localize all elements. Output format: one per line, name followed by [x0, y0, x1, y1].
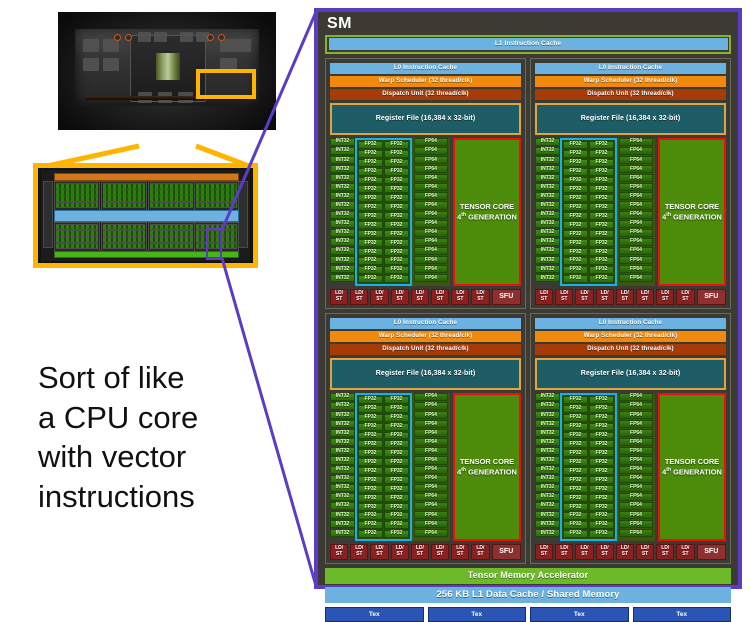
int32-core-column: INT32INT32INT32INT32INT32INT32INT32INT32… — [330, 393, 355, 541]
core-cell: FP32 — [563, 440, 588, 448]
pcb-module — [83, 58, 99, 70]
core-cell: FP64 — [414, 229, 448, 237]
core-cell: FP32 — [563, 221, 588, 229]
core-cell: FP64 — [619, 447, 653, 455]
processing-block-grid: L0 Instruction CacheWarp Scheduler (32 t… — [325, 58, 731, 564]
die-sm-row — [56, 202, 99, 209]
core-cell: FP32 — [589, 159, 614, 167]
core-cell: FP32 — [358, 440, 383, 448]
core-cell: FP64 — [619, 402, 653, 410]
caption-line: a CPU core — [38, 398, 288, 438]
core-cell: FP64 — [619, 138, 653, 146]
core-cell: FP32 — [384, 257, 409, 265]
tex-unit: Tex — [633, 607, 732, 622]
core-cell: FP32 — [589, 257, 614, 265]
core-cell: FP32 — [563, 141, 588, 149]
pcb-module — [220, 39, 236, 51]
core-cell: INT32 — [535, 529, 560, 537]
core-cell: INT32 — [330, 429, 355, 437]
core-cell: FP64 — [619, 420, 653, 428]
die-sm-row — [196, 202, 238, 209]
die-gpc — [101, 222, 148, 252]
core-cell: INT32 — [535, 484, 560, 492]
core-cell: INT32 — [330, 183, 355, 191]
core-cell: FP64 — [619, 265, 653, 273]
pcb-module — [138, 32, 151, 42]
core-cell: FP64 — [619, 393, 653, 401]
core-cell: INT32 — [535, 466, 560, 474]
core-cell: FP64 — [414, 138, 448, 146]
core-cell: FP64 — [619, 156, 653, 164]
core-cell: FP32 — [563, 432, 588, 440]
core-cell: FP32 — [384, 476, 409, 484]
core-cell: FP32 — [589, 449, 614, 457]
pcb-die-surface — [156, 53, 179, 80]
ldst-unit: LD/ST — [656, 544, 674, 560]
core-cell: INT32 — [330, 256, 355, 264]
core-cell: FP32 — [563, 266, 588, 274]
core-cell: FP64 — [619, 247, 653, 255]
tensor-memory-accelerator: Tensor Memory Accelerator — [325, 568, 731, 584]
core-cell: FP32 — [563, 203, 588, 211]
core-cell: FP64 — [619, 229, 653, 237]
core-cell: FP32 — [384, 266, 409, 274]
warp-scheduler: Warp Scheduler (32 thread/clk) — [535, 331, 726, 342]
core-cell: FP32 — [384, 432, 409, 440]
ldst-sfu-row: LD/STLD/STLD/STLD/STLD/STLD/STLD/STLD/ST… — [535, 544, 726, 560]
ldst-unit: LD/ST — [676, 544, 694, 560]
core-cell: FP64 — [414, 502, 448, 510]
core-cell: INT32 — [330, 466, 355, 474]
core-cell: FP64 — [619, 211, 653, 219]
core-cell: INT32 — [535, 256, 560, 264]
core-cell: FP32 — [563, 530, 588, 538]
core-cell: FP32 — [563, 275, 588, 283]
caption-line: instructions — [38, 477, 288, 517]
processing-block: L0 Instruction CacheWarp Scheduler (32 t… — [325, 58, 526, 309]
core-cell: FP64 — [619, 183, 653, 191]
fp64-core-area: FP64FP64FP64FP64FP64FP64FP64FP64FP64FP64… — [412, 393, 450, 541]
ldst-unit: LD/ST — [411, 544, 429, 560]
core-cell: INT32 — [330, 502, 355, 510]
die-top-interface-bar — [54, 173, 240, 181]
core-cell: FP64 — [414, 456, 448, 464]
core-cell: INT32 — [330, 420, 355, 428]
core-cell: FP32 — [358, 396, 383, 404]
pcb-screw — [114, 34, 121, 41]
l1-instruction-cache-wrapper: L1 Instruction Cache — [325, 35, 731, 54]
core-cell: FP32 — [589, 512, 614, 520]
core-cell: FP32 — [358, 221, 383, 229]
core-cell: FP32 — [589, 185, 614, 193]
core-cell: FP64 — [619, 466, 653, 474]
core-cell: INT32 — [330, 147, 355, 155]
core-cell: FP32 — [563, 248, 588, 256]
core-cell: FP32 — [589, 396, 614, 404]
core-cell: FP32 — [563, 239, 588, 247]
core-cell: FP32 — [589, 248, 614, 256]
core-cell: INT32 — [535, 429, 560, 437]
fp32-core-highlight-group: FP32FP32FP32FP32FP32FP32FP32FP32FP32FP32… — [560, 393, 617, 541]
core-cell: FP32 — [589, 467, 614, 475]
core-cell: FP32 — [384, 467, 409, 475]
core-cell: FP32 — [384, 396, 409, 404]
core-cell: FP32 — [589, 194, 614, 202]
ldst-unit: LD/ST — [596, 544, 614, 560]
core-cell: FP32 — [589, 476, 614, 484]
core-cell: FP32 — [589, 168, 614, 176]
core-cell: INT32 — [330, 411, 355, 419]
fp64-core-column: FP64FP64FP64FP64FP64FP64FP64FP64FP64FP64… — [619, 138, 653, 283]
core-cell: FP64 — [619, 274, 653, 282]
core-cell: FP32 — [384, 275, 409, 283]
core-cell: FP64 — [414, 402, 448, 410]
core-cell: INT32 — [330, 165, 355, 173]
core-cell: FP32 — [358, 177, 383, 185]
core-cell: FP64 — [414, 183, 448, 191]
die-gpc — [54, 222, 101, 252]
register-file-wrapper: Register File (16,384 x 32-bit) — [535, 358, 726, 390]
core-cell: FP64 — [619, 529, 653, 537]
ldst-unit: LD/ST — [575, 544, 593, 560]
ldst-unit: LD/ST — [370, 289, 388, 305]
core-cell: FP32 — [563, 458, 588, 466]
fp32-core-column: FP32FP32FP32FP32FP32FP32FP32FP32FP32FP32… — [589, 141, 614, 283]
core-cell: FP32 — [384, 177, 409, 185]
sfu-unit: SFU — [492, 289, 522, 305]
core-cell: FP32 — [358, 414, 383, 422]
tensor-core: TENSOR CORE4th GENERATION — [453, 393, 521, 541]
core-cell: INT32 — [535, 183, 560, 191]
warp-scheduler: Warp Scheduler (32 thread/clk) — [330, 76, 521, 87]
core-cell: FP64 — [414, 447, 448, 455]
core-cell: FP64 — [619, 192, 653, 200]
core-cell: FP32 — [358, 141, 383, 149]
gpu-board-photo — [58, 12, 276, 130]
fp32-core-column: FP32FP32FP32FP32FP32FP32FP32FP32FP32FP32… — [563, 396, 588, 538]
core-cell: FP32 — [358, 476, 383, 484]
ldst-unit: LD/ST — [471, 289, 489, 305]
register-file: Register File (16,384 x 32-bit) — [332, 360, 519, 388]
ldst-unit: LD/ST — [596, 289, 614, 305]
ldst-unit: LD/ST — [535, 289, 553, 305]
caption-line: Sort of like — [38, 358, 288, 398]
core-cell: FP32 — [563, 194, 588, 202]
int32-core-column: INT32INT32INT32INT32INT32INT32INT32INT32… — [535, 393, 560, 541]
processing-block: L0 Instruction CacheWarp Scheduler (32 t… — [325, 313, 526, 564]
processing-block: L0 Instruction CacheWarp Scheduler (32 t… — [530, 313, 731, 564]
tex-unit: Tex — [428, 607, 527, 622]
ldst-unit: LD/ST — [350, 289, 368, 305]
core-cell: FP32 — [589, 530, 614, 538]
core-cell: FP64 — [414, 247, 448, 255]
core-cell: FP64 — [414, 147, 448, 155]
core-cell: FP32 — [563, 485, 588, 493]
core-cell: FP32 — [384, 512, 409, 520]
core-cell: FP32 — [384, 414, 409, 422]
die-gpc — [194, 181, 240, 211]
core-cell: FP64 — [414, 265, 448, 273]
fp32-core-column: FP32FP32FP32FP32FP32FP32FP32FP32FP32FP32… — [358, 141, 383, 283]
core-cell: FP32 — [358, 203, 383, 211]
register-file-wrapper: Register File (16,384 x 32-bit) — [535, 103, 726, 135]
tex-unit-row: TexTexTexTex — [325, 607, 731, 622]
core-cell: FP32 — [563, 494, 588, 502]
core-cell: FP32 — [384, 212, 409, 220]
core-cell: FP64 — [619, 520, 653, 528]
core-cell: FP32 — [589, 423, 614, 431]
core-cell: FP64 — [619, 456, 653, 464]
core-array: INT32INT32INT32INT32INT32INT32INT32INT32… — [330, 138, 521, 286]
l0-instruction-cache: L0 Instruction Cache — [330, 63, 521, 74]
core-cell: INT32 — [535, 511, 560, 519]
fp32-core-column: FP32FP32FP32FP32FP32FP32FP32FP32FP32FP32… — [384, 396, 409, 538]
sm-block-diagram: SM L1 Instruction Cache L0 Instruction C… — [314, 8, 742, 589]
core-cell: INT32 — [330, 174, 355, 182]
core-cell: FP32 — [358, 458, 383, 466]
core-cell: FP32 — [358, 485, 383, 493]
ldst-unit: LD/ST — [431, 544, 449, 560]
core-cell: FP32 — [563, 396, 588, 404]
ldst-unit: LD/ST — [451, 289, 469, 305]
core-cell: FP64 — [414, 211, 448, 219]
core-cell: INT32 — [535, 393, 560, 401]
core-cell: INT32 — [330, 192, 355, 200]
core-cell: FP32 — [358, 423, 383, 431]
die-sm-row — [56, 243, 99, 250]
core-cell: INT32 — [535, 247, 560, 255]
core-cell: FP32 — [384, 185, 409, 193]
core-array: INT32INT32INT32INT32INT32INT32INT32INT32… — [535, 393, 726, 541]
pcb-module — [154, 32, 167, 42]
pcb-module — [180, 32, 193, 42]
die-l2-cache — [54, 210, 240, 222]
fp32-core-column: FP32FP32FP32FP32FP32FP32FP32FP32FP32FP32… — [563, 141, 588, 283]
core-cell: FP64 — [414, 274, 448, 282]
pcb-screw — [207, 34, 214, 41]
core-cell: FP32 — [358, 194, 383, 202]
core-cell: INT32 — [535, 220, 560, 228]
core-cell: FP32 — [384, 203, 409, 211]
core-cell: FP32 — [589, 266, 614, 274]
core-cell: FP32 — [563, 150, 588, 158]
dispatch-unit: Dispatch Unit (32 thread/clk) — [330, 344, 521, 355]
core-cell: FP32 — [589, 405, 614, 413]
core-cell: INT32 — [330, 220, 355, 228]
die-memory-controller-left — [43, 181, 53, 249]
core-cell: FP32 — [358, 432, 383, 440]
core-cell: INT32 — [330, 520, 355, 528]
core-cell: INT32 — [535, 274, 560, 282]
fp32-core-highlight-group: FP32FP32FP32FP32FP32FP32FP32FP32FP32FP32… — [355, 138, 412, 286]
core-cell: INT32 — [330, 201, 355, 209]
fp32-core-column: FP32FP32FP32FP32FP32FP32FP32FP32FP32FP32… — [589, 396, 614, 538]
core-cell: FP32 — [358, 503, 383, 511]
ldst-unit: LD/ST — [616, 289, 634, 305]
fp32-core-column: FP32FP32FP32FP32FP32FP32FP32FP32FP32FP32… — [358, 396, 383, 538]
fp32-core-column: FP32FP32FP32FP32FP32FP32FP32FP32FP32FP32… — [384, 141, 409, 283]
core-cell: INT32 — [535, 156, 560, 164]
core-cell: INT32 — [535, 502, 560, 510]
pcb-module — [83, 39, 99, 51]
core-cell: FP32 — [563, 230, 588, 238]
core-cell: FP32 — [384, 221, 409, 229]
core-cell: FP64 — [619, 220, 653, 228]
core-cell: FP32 — [358, 257, 383, 265]
core-cell: FP64 — [619, 174, 653, 182]
core-cell: FP32 — [358, 185, 383, 193]
ldst-unit: LD/ST — [616, 544, 634, 560]
core-cell: FP32 — [384, 449, 409, 457]
die-sm-row — [150, 243, 193, 250]
core-cell: INT32 — [330, 138, 355, 146]
ldst-unit: LD/ST — [431, 289, 449, 305]
core-cell: FP32 — [358, 266, 383, 274]
tensor-core: TENSOR CORE4th GENERATION — [453, 138, 521, 286]
caption-text: Sort of like a CPU core with vector inst… — [38, 358, 288, 517]
die-gpc — [148, 181, 195, 211]
core-cell: FP32 — [589, 440, 614, 448]
core-cell: FP64 — [414, 429, 448, 437]
l1-instruction-cache: L1 Instruction Cache — [329, 38, 728, 50]
register-file: Register File (16,384 x 32-bit) — [537, 360, 724, 388]
core-cell: FP64 — [619, 511, 653, 519]
fp64-core-column: FP64FP64FP64FP64FP64FP64FP64FP64FP64FP64… — [414, 393, 448, 538]
ldst-unit: LD/ST — [471, 544, 489, 560]
core-cell: INT32 — [330, 484, 355, 492]
core-cell: FP32 — [384, 150, 409, 158]
fp64-core-column: FP64FP64FP64FP64FP64FP64FP64FP64FP64FP64… — [619, 393, 653, 538]
ldst-unit: LD/ST — [391, 544, 409, 560]
core-array: INT32INT32INT32INT32INT32INT32INT32INT32… — [535, 138, 726, 286]
fp32-core-highlight-group: FP32FP32FP32FP32FP32FP32FP32FP32FP32FP32… — [560, 138, 617, 286]
die-gpc — [148, 222, 195, 252]
core-array: INT32INT32INT32INT32INT32INT32INT32INT32… — [330, 393, 521, 541]
dispatch-unit: Dispatch Unit (32 thread/clk) — [535, 344, 726, 355]
tensor-core: TENSOR CORE4th GENERATION — [658, 393, 726, 541]
core-cell: FP64 — [619, 429, 653, 437]
core-cell: FP64 — [619, 165, 653, 173]
ldst-unit: LD/ST — [535, 544, 553, 560]
pcb-screw — [125, 34, 132, 41]
core-cell: INT32 — [330, 511, 355, 519]
core-cell: INT32 — [535, 201, 560, 209]
core-cell: FP32 — [589, 239, 614, 247]
core-cell: INT32 — [330, 229, 355, 237]
core-cell: FP64 — [414, 220, 448, 228]
pcb-module — [237, 39, 252, 51]
core-cell: INT32 — [535, 475, 560, 483]
core-cell: FP64 — [619, 201, 653, 209]
core-cell: INT32 — [535, 147, 560, 155]
core-cell: INT32 — [535, 174, 560, 182]
die-sm-row — [103, 202, 146, 209]
core-cell: INT32 — [330, 447, 355, 455]
core-cell: FP32 — [589, 150, 614, 158]
core-cell: FP32 — [358, 512, 383, 520]
processing-block: L0 Instruction CacheWarp Scheduler (32 t… — [530, 58, 731, 309]
core-cell: FP32 — [563, 521, 588, 529]
ldst-unit: LD/ST — [411, 289, 429, 305]
core-cell: INT32 — [535, 229, 560, 237]
ldst-unit: LD/ST — [391, 289, 409, 305]
core-cell: FP32 — [563, 159, 588, 167]
tex-unit: Tex — [530, 607, 629, 622]
core-cell: FP32 — [589, 458, 614, 466]
ldst-unit: LD/ST — [575, 289, 593, 305]
core-cell: INT32 — [330, 529, 355, 537]
core-cell: FP64 — [619, 411, 653, 419]
core-cell: INT32 — [330, 402, 355, 410]
core-cell: FP32 — [384, 405, 409, 413]
core-cell: FP64 — [414, 511, 448, 519]
die-gpc — [101, 181, 148, 211]
core-cell: FP32 — [563, 512, 588, 520]
ldst-unit: LD/ST — [676, 289, 694, 305]
core-cell: FP32 — [563, 449, 588, 457]
photo-zoom-highlight-box — [196, 69, 256, 99]
core-cell: FP32 — [589, 485, 614, 493]
gpu-die-floorplan-diagram — [33, 163, 258, 268]
core-cell: FP32 — [589, 414, 614, 422]
core-cell: FP64 — [619, 475, 653, 483]
core-cell: INT32 — [330, 211, 355, 219]
core-cell: FP64 — [414, 165, 448, 173]
fp64-core-area: FP64FP64FP64FP64FP64FP64FP64FP64FP64FP64… — [617, 138, 655, 286]
core-cell: FP64 — [414, 156, 448, 164]
core-cell: FP32 — [384, 194, 409, 202]
core-cell: FP64 — [619, 484, 653, 492]
core-cell: INT32 — [535, 438, 560, 446]
core-cell: FP32 — [358, 275, 383, 283]
core-cell: FP32 — [358, 449, 383, 457]
left-illustration-column: Sort of like a CPU core with vector inst… — [0, 0, 305, 600]
core-cell: INT32 — [330, 393, 355, 401]
core-cell: FP64 — [414, 484, 448, 492]
core-cell: FP32 — [358, 248, 383, 256]
int32-core-column: INT32INT32INT32INT32INT32INT32INT32INT32… — [330, 138, 355, 286]
core-cell: FP32 — [384, 521, 409, 529]
sfu-unit: SFU — [492, 544, 522, 560]
register-file: Register File (16,384 x 32-bit) — [332, 105, 519, 133]
core-cell: INT32 — [330, 247, 355, 255]
core-cell: INT32 — [330, 493, 355, 501]
core-cell: FP32 — [563, 168, 588, 176]
dispatch-unit: Dispatch Unit (32 thread/clk) — [535, 89, 726, 100]
core-cell: FP32 — [589, 203, 614, 211]
core-cell: FP32 — [384, 458, 409, 466]
ldst-unit: LD/ST — [451, 544, 469, 560]
core-cell: FP32 — [589, 503, 614, 511]
core-cell: FP32 — [384, 248, 409, 256]
ldst-sfu-row: LD/STLD/STLD/STLD/STLD/STLD/STLD/STLD/ST… — [535, 289, 726, 305]
ldst-unit: LD/ST — [636, 289, 654, 305]
core-cell: FP64 — [414, 529, 448, 537]
core-cell: FP32 — [358, 212, 383, 220]
core-cell: FP64 — [414, 192, 448, 200]
sfu-unit: SFU — [697, 544, 727, 560]
int32-core-column: INT32INT32INT32INT32INT32INT32INT32INT32… — [535, 138, 560, 286]
die-gpc — [54, 181, 101, 211]
core-cell: FP32 — [384, 239, 409, 247]
core-cell: FP32 — [384, 159, 409, 167]
ldst-unit: LD/ST — [636, 544, 654, 560]
ldst-sfu-row: LD/STLD/STLD/STLD/STLD/STLD/STLD/STLD/ST… — [330, 544, 521, 560]
core-cell: FP32 — [589, 521, 614, 529]
core-cell: FP64 — [414, 201, 448, 209]
core-cell: FP64 — [619, 147, 653, 155]
core-cell: INT32 — [330, 274, 355, 282]
